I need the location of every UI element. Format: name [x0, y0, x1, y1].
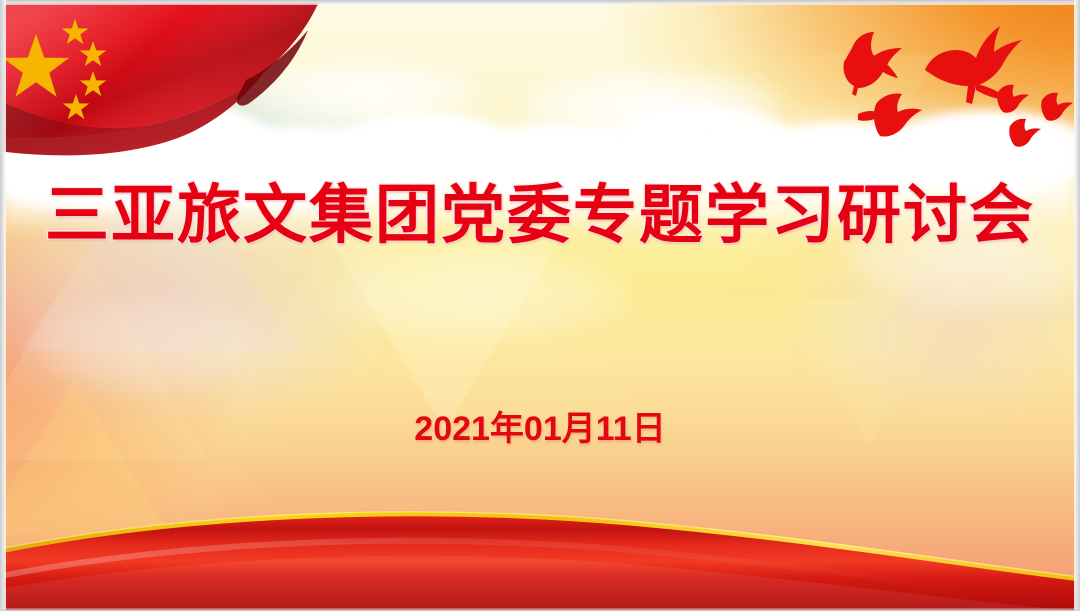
cloud-decoration [30, 300, 270, 390]
red-ribbon-wave [0, 481, 1080, 611]
chinese-flag-icon [0, 0, 376, 184]
poster-canvas: 三亚旅文集团党委专题学习研讨会 2021年01月11日 [0, 0, 1080, 611]
page-title: 三亚旅文集团党委专题学习研讨会 [0, 178, 1080, 252]
flying-doves-icon [830, 0, 1080, 150]
cloud-decoration [520, 70, 780, 140]
cloud-decoration [330, 250, 630, 340]
event-date: 2021年01月11日 [0, 409, 1080, 449]
